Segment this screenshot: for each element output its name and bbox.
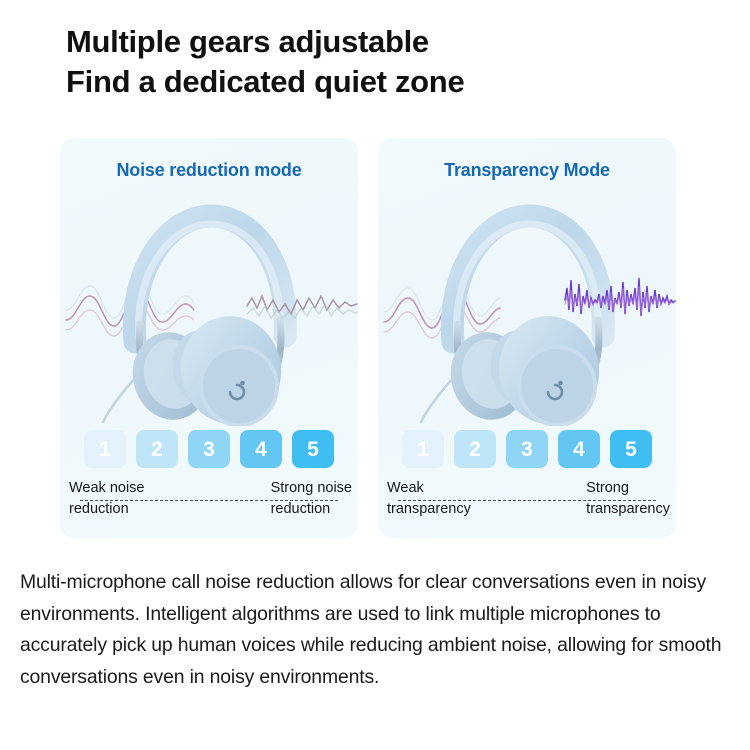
- scale-noise-reduction: Weak noise reduction Strong noise reduct…: [60, 478, 358, 528]
- scale-label-weak: Weak transparency: [387, 478, 471, 520]
- level-box-2[interactable]: 2: [136, 430, 178, 468]
- scale-label-weak-line2: reduction: [69, 499, 145, 520]
- card-title-transparency: Transparency Mode: [378, 160, 676, 181]
- level-box-4[interactable]: 4: [558, 430, 600, 468]
- scale-label-strong: Strong noise reduction: [271, 478, 352, 520]
- heading-line-1: Multiple gears adjustable: [66, 22, 706, 62]
- scale-label-strong-line1: Strong: [586, 478, 670, 499]
- headphones-illustration-left: [60, 200, 358, 428]
- level-box-2[interactable]: 2: [454, 430, 496, 468]
- mode-cards-row: Noise reduction mode: [60, 138, 691, 538]
- level-box-1[interactable]: 1: [402, 430, 444, 468]
- card-noise-reduction-mode: Noise reduction mode: [60, 138, 358, 538]
- scale-label-strong: Strong transparency: [586, 478, 670, 520]
- page-title: Multiple gears adjustable Find a dedicat…: [66, 22, 706, 102]
- headphones-illustration-right: [378, 200, 676, 428]
- scale-label-strong-line2: transparency: [586, 499, 670, 520]
- level-box-5[interactable]: 5: [610, 430, 652, 468]
- level-boxes-transparency: 1 2 3 4 5: [378, 430, 676, 468]
- scale-transparency: Weak transparency Strong transparency: [378, 478, 676, 528]
- level-box-1[interactable]: 1: [84, 430, 126, 468]
- scale-label-strong-line1: Strong noise: [271, 478, 352, 499]
- card-transparency-mode: Transparency Mode: [378, 138, 676, 538]
- level-box-3[interactable]: 3: [506, 430, 548, 468]
- scale-label-weak-line2: transparency: [387, 499, 471, 520]
- scale-label-strong-line2: reduction: [271, 499, 352, 520]
- description-paragraph: Multi-microphone call noise reduction al…: [20, 567, 738, 693]
- card-title-noise-reduction: Noise reduction mode: [60, 160, 358, 181]
- level-boxes-noise-reduction: 1 2 3 4 5: [60, 430, 358, 468]
- scale-label-weak-line1: Weak noise: [69, 478, 145, 499]
- scale-label-weak-line1: Weak: [387, 478, 471, 499]
- product-feature-page: Multiple gears adjustable Find a dedicat…: [0, 0, 750, 750]
- heading-line-2: Find a dedicated quiet zone: [66, 62, 706, 102]
- level-box-5[interactable]: 5: [292, 430, 334, 468]
- level-box-3[interactable]: 3: [188, 430, 230, 468]
- level-box-4[interactable]: 4: [240, 430, 282, 468]
- scale-label-weak: Weak noise reduction: [69, 478, 145, 520]
